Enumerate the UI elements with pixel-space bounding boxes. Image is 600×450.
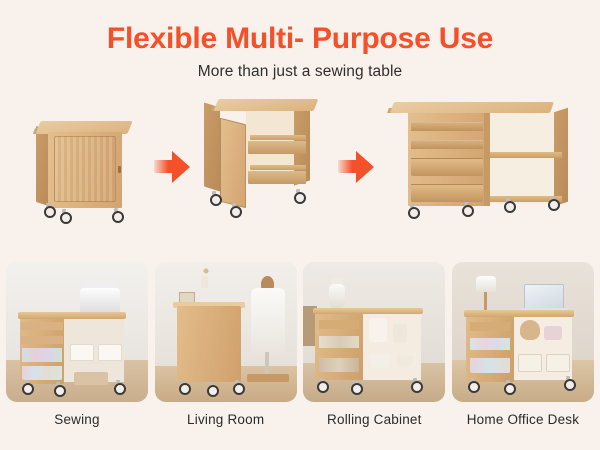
card-label: Sewing xyxy=(6,412,148,427)
pullout-drawer xyxy=(248,171,306,184)
table-lamp-stem xyxy=(484,292,487,310)
thread-spool-row xyxy=(470,338,510,350)
jar-row xyxy=(319,336,359,348)
woven-basket xyxy=(546,354,570,372)
caster-wheel xyxy=(230,203,238,214)
stage-arrow-1 xyxy=(152,149,192,183)
folded-leaf-panel xyxy=(204,102,220,191)
page-subtitle: More than just a sewing table xyxy=(0,63,600,81)
lower-shelf-items xyxy=(319,358,359,372)
folded-cabinet xyxy=(177,306,241,382)
photo-rolling-cabinet xyxy=(303,262,445,402)
thread-spool-row xyxy=(21,322,63,330)
bowl xyxy=(369,354,391,368)
stage-extended-table xyxy=(378,96,578,231)
infographic-page: Flexible Multi- Purpose Use More than ju… xyxy=(0,0,600,450)
cart-tabletop xyxy=(313,308,423,314)
yarn-ball-row xyxy=(470,358,510,373)
caster-wheel xyxy=(54,382,62,393)
caster-wheel xyxy=(504,198,512,209)
stage-closed-cabinet xyxy=(30,111,150,231)
photo-living-room xyxy=(155,262,297,402)
arrow-head xyxy=(356,151,374,183)
page-title: Flexible Multi- Purpose Use xyxy=(0,22,600,55)
header: Flexible Multi- Purpose Use More than ju… xyxy=(0,0,600,81)
decor-item xyxy=(544,326,562,340)
caster-wheel xyxy=(317,378,325,389)
transformation-stages xyxy=(0,91,600,231)
thread-spool-row xyxy=(22,348,62,362)
caster-wheel xyxy=(114,380,122,391)
laptop-screen xyxy=(524,284,564,310)
thread-spool-row xyxy=(21,336,63,344)
spool-rack xyxy=(411,140,483,149)
spool-rack xyxy=(470,322,510,331)
caster-wheel xyxy=(112,208,120,219)
caster-wheel xyxy=(207,382,215,393)
cart-tabletop xyxy=(18,312,126,319)
interior-shelf xyxy=(250,165,306,170)
stage-arrow-2 xyxy=(336,149,376,183)
use-case-cards: Sewing Living Room xyxy=(0,262,600,427)
canister xyxy=(369,318,387,342)
open-shelf xyxy=(488,152,562,158)
caster-wheel xyxy=(408,204,416,215)
table-top-surface xyxy=(390,102,554,113)
card-rolling-cabinet[interactable]: Rolling Cabinet xyxy=(303,262,445,427)
caster-wheel xyxy=(548,196,556,207)
yarn-ball-row xyxy=(22,366,62,380)
storage-bin xyxy=(411,184,483,202)
caster-wheel xyxy=(411,378,419,389)
caster-wheel xyxy=(294,189,302,200)
woven-basket xyxy=(518,354,542,372)
cabinet-door-open xyxy=(220,118,246,208)
storage-bin xyxy=(411,158,483,176)
storage-basket xyxy=(70,344,94,361)
caster-wheel xyxy=(60,209,68,220)
pullout-drawer xyxy=(248,141,306,154)
table-lamp-shade xyxy=(476,276,496,292)
interior-shelf xyxy=(250,135,306,140)
arrow-head xyxy=(172,151,190,183)
card-label: Rolling Cabinet xyxy=(303,412,445,427)
caster-wheel xyxy=(22,380,30,391)
card-label: Living Room xyxy=(155,412,297,427)
card-label: Home Office Desk xyxy=(452,412,594,427)
blender-jar xyxy=(329,284,345,308)
caster-wheel xyxy=(210,191,218,202)
spool-rack xyxy=(411,122,483,131)
photo-home-office xyxy=(452,262,594,402)
card-home-office-desk[interactable]: Home Office Desk xyxy=(452,262,594,427)
caster-wheel xyxy=(462,202,470,213)
caster-wheel xyxy=(179,380,187,391)
glass-jar xyxy=(393,324,407,342)
card-sewing[interactable]: Sewing xyxy=(6,262,148,427)
wooden-base xyxy=(247,374,289,382)
caster-wheel xyxy=(468,378,476,389)
spice-rack xyxy=(319,320,359,329)
storage-basket xyxy=(98,344,122,361)
open-shelving-unit xyxy=(488,112,562,204)
card-living-room[interactable]: Living Room xyxy=(155,262,297,427)
center-divider xyxy=(484,112,490,206)
cabinet-top-surface xyxy=(214,99,319,111)
photo-sewing xyxy=(6,262,148,402)
cart-tabletop xyxy=(464,310,574,317)
stage-opened-cabinet xyxy=(194,91,334,231)
vase xyxy=(201,276,208,288)
teddy-bear xyxy=(520,320,540,340)
fabric-box xyxy=(74,372,108,385)
caster-wheel xyxy=(351,380,359,391)
caster-wheel xyxy=(504,380,512,391)
mannequin-shirt xyxy=(251,288,285,354)
caster-wheel xyxy=(564,376,572,387)
cabinet-door-knob xyxy=(118,166,121,173)
sewing-machine xyxy=(80,288,120,314)
caster-wheel xyxy=(233,380,241,391)
caster-wheel xyxy=(44,203,52,214)
cabinet-door xyxy=(54,136,116,202)
